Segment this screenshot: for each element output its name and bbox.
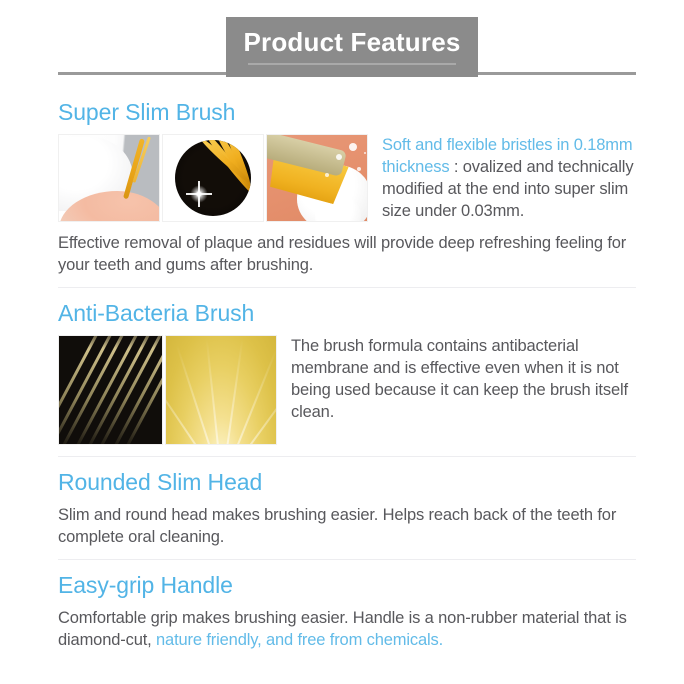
- yellow-bristle-fan-image: [165, 335, 277, 445]
- spacer: [58, 548, 636, 559]
- spacer: [58, 445, 636, 456]
- section-rounded-slim-head: Rounded Slim Head Slim and round head ma…: [58, 468, 636, 571]
- section-4-highlight-text: nature friendly, and free from chemicals…: [156, 631, 443, 649]
- page-title-box: Product Features: [226, 17, 478, 77]
- dark-bristle-strands-image: [58, 335, 163, 445]
- section-3-body-text: Slim and round head makes brushing easie…: [58, 504, 636, 548]
- magnifier-circle: [175, 140, 251, 216]
- section-easy-grip-handle: Easy-grip Handle Comfortable grip makes …: [58, 571, 636, 651]
- section-anti-bacteria-brush: Anti-Bacteria Brush: [58, 299, 636, 468]
- product-features-page: Product Features Super Slim Brush: [0, 0, 684, 684]
- spacer: [58, 222, 636, 232]
- features-content: Super Slim Brush: [0, 98, 684, 651]
- bristle-ray: [203, 335, 223, 445]
- section-4-body-text: Comfortable grip makes brushing easier. …: [58, 607, 636, 651]
- spacer: [58, 457, 636, 468]
- page-title: Product Features: [243, 29, 460, 55]
- section-title-easy-grip-handle: Easy-grip Handle: [58, 571, 636, 600]
- section-2-thumbnails: [58, 335, 277, 445]
- section-title-super-slim-brush: Super Slim Brush: [58, 98, 636, 127]
- spacer: [58, 560, 636, 571]
- tooth-gum-bristle-image: [58, 134, 160, 222]
- title-box-underline: [248, 63, 456, 65]
- section-super-slim-brush: Super Slim Brush: [58, 98, 636, 299]
- section-1-thumbnails: [58, 134, 368, 222]
- section-1-body-text: Effective removal of plaque and residues…: [58, 232, 636, 276]
- section-1-media-row: Soft and flexible bristles in 0.18mm thi…: [58, 134, 636, 222]
- foam-bubbles-shape: [349, 143, 357, 151]
- spacer: [58, 288, 636, 299]
- brush-on-teeth-image: [266, 134, 368, 222]
- section-1-side-text: Soft and flexible bristles in 0.18mm thi…: [378, 134, 636, 222]
- section-title-anti-bacteria-brush: Anti-Bacteria Brush: [58, 299, 636, 328]
- section-2-side-text: The brush formula contains antibacterial…: [287, 335, 636, 423]
- bristle-tip-closeup-image: [162, 134, 264, 222]
- spacer: [58, 276, 636, 287]
- section-2-rest-text: The brush formula contains antibacterial…: [291, 337, 628, 421]
- section-title-rounded-slim-head: Rounded Slim Head: [58, 468, 636, 497]
- page-header: Product Features: [0, 0, 684, 98]
- section-2-media-row: The brush formula contains antibacterial…: [58, 335, 636, 445]
- sparkle-icon: [189, 184, 209, 204]
